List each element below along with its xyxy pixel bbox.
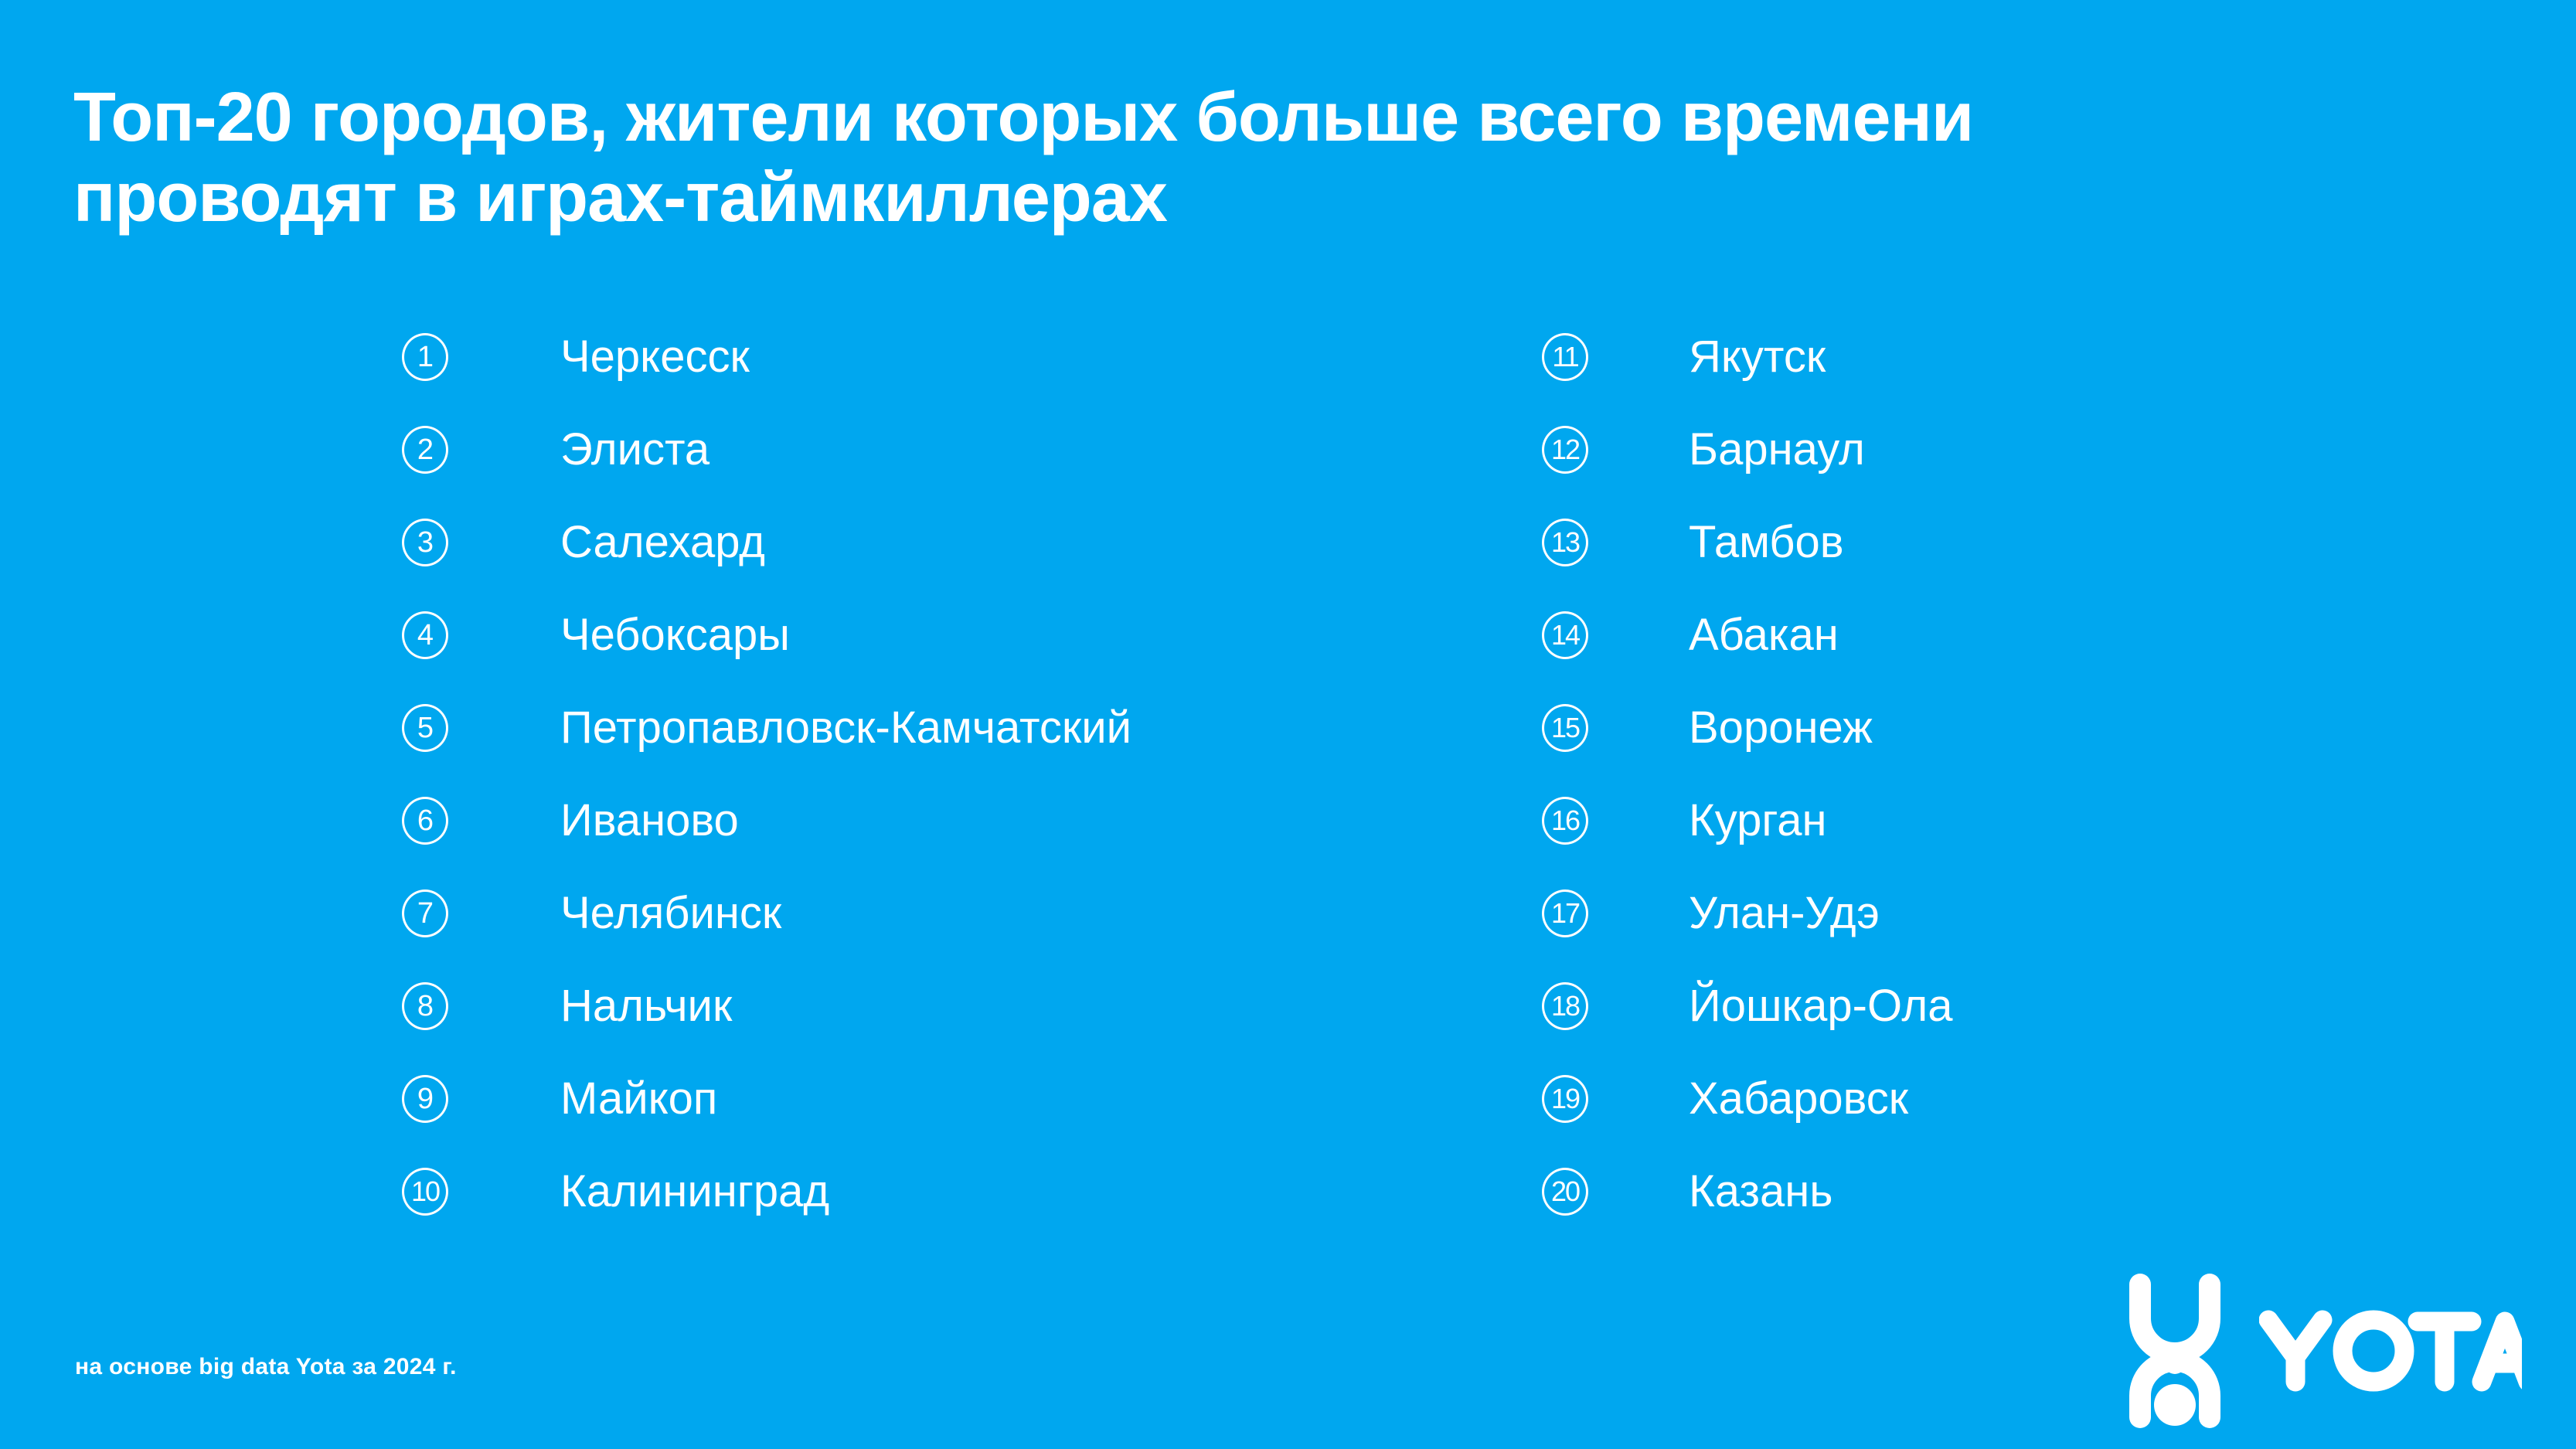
city-name: Калининград (560, 1168, 829, 1216)
rank-badge: 10 (402, 1168, 448, 1216)
city-name: Челябинск (560, 889, 781, 937)
title-line-1: Топ-20 городов, жители которых больше вс… (73, 77, 2083, 158)
list-item: 18 Йошкар-Ола (1542, 960, 2469, 1053)
rank-badge: 5 (402, 704, 448, 752)
rank-badge: 8 (402, 982, 448, 1030)
list-item: 11 Якутск (1542, 311, 2469, 403)
ranking-column-right: 11 Якутск 12 Барнаул 13 Тамбов 14 Абакан… (1542, 311, 2469, 1238)
yota-mark-icon (2125, 1274, 2225, 1428)
list-item: 14 Абакан (1542, 589, 2469, 682)
city-name: Йошкар-Ола (1689, 982, 1953, 1030)
page-title: Топ-20 городов, жители которых больше вс… (73, 77, 2083, 238)
rank-badge: 13 (1542, 519, 1588, 566)
city-name: Нальчик (560, 982, 732, 1030)
city-name: Чебоксары (560, 611, 790, 659)
yota-wordmark (2259, 1309, 2522, 1393)
rank-badge: 9 (402, 1075, 448, 1123)
city-name: Майкоп (560, 1075, 717, 1123)
city-name: Петропавловск-Камчатский (560, 704, 1131, 752)
city-name: Улан-Удэ (1689, 889, 1880, 937)
city-name: Иваново (560, 797, 739, 845)
list-item: 6 Иваново (402, 774, 1484, 867)
infographic-poster: Топ-20 городов, жители которых больше вс… (0, 0, 2576, 1449)
list-item: 16 Курган (1542, 774, 2469, 867)
list-item: 8 Нальчик (402, 960, 1484, 1053)
rank-badge: 17 (1542, 889, 1588, 937)
list-item: 1 Черкесск (402, 311, 1484, 403)
yota-logo (2125, 1274, 2522, 1428)
rank-badge: 15 (1542, 704, 1588, 752)
title-line-2: проводят в играх-таймкиллерах (73, 158, 2083, 238)
list-item: 17 Улан-Удэ (1542, 867, 2469, 960)
list-item: 15 Воронеж (1542, 682, 2469, 774)
rank-badge: 20 (1542, 1168, 1588, 1216)
rank-badge: 19 (1542, 1075, 1588, 1123)
city-name: Тамбов (1689, 519, 1844, 566)
rank-badge: 14 (1542, 611, 1588, 659)
ranking-list: 1 Черкесск 2 Элиста 3 Салехард 4 Чебокса… (0, 311, 2576, 1238)
city-name: Салехард (560, 519, 765, 566)
rank-badge: 7 (402, 889, 448, 937)
city-name: Черкесск (560, 333, 750, 381)
rank-badge: 11 (1542, 333, 1588, 381)
list-item: 5 Петропавловск-Камчатский (402, 682, 1484, 774)
city-name: Абакан (1689, 611, 1839, 659)
ranking-column-left: 1 Черкесск 2 Элиста 3 Салехард 4 Чебокса… (402, 311, 1484, 1238)
rank-badge: 18 (1542, 982, 1588, 1030)
rank-badge: 6 (402, 797, 448, 845)
list-item: 10 Калининград (402, 1145, 1484, 1238)
rank-badge: 1 (402, 333, 448, 381)
list-item: 13 Тамбов (1542, 496, 2469, 589)
list-item: 7 Челябинск (402, 867, 1484, 960)
rank-badge: 4 (402, 611, 448, 659)
city-name: Воронеж (1689, 704, 1873, 752)
city-name: Якутск (1689, 333, 1826, 381)
list-item: 20 Казань (1542, 1145, 2469, 1238)
rank-badge: 16 (1542, 797, 1588, 845)
city-name: Казань (1689, 1168, 1833, 1216)
list-item: 19 Хабаровск (1542, 1053, 2469, 1145)
city-name: Хабаровск (1689, 1075, 1908, 1123)
rank-badge: 3 (402, 519, 448, 566)
city-name: Барнаул (1689, 426, 1865, 474)
city-name: Курган (1689, 797, 1827, 845)
list-item: 3 Салехард (402, 496, 1484, 589)
rank-badge: 2 (402, 426, 448, 474)
list-item: 2 Элиста (402, 403, 1484, 496)
source-note: на основе big data Yota за 2024 г. (75, 1354, 457, 1380)
list-item: 4 Чебоксары (402, 589, 1484, 682)
list-item: 9 Майкоп (402, 1053, 1484, 1145)
list-item: 12 Барнаул (1542, 403, 2469, 496)
rank-badge: 12 (1542, 426, 1588, 474)
city-name: Элиста (560, 426, 710, 474)
